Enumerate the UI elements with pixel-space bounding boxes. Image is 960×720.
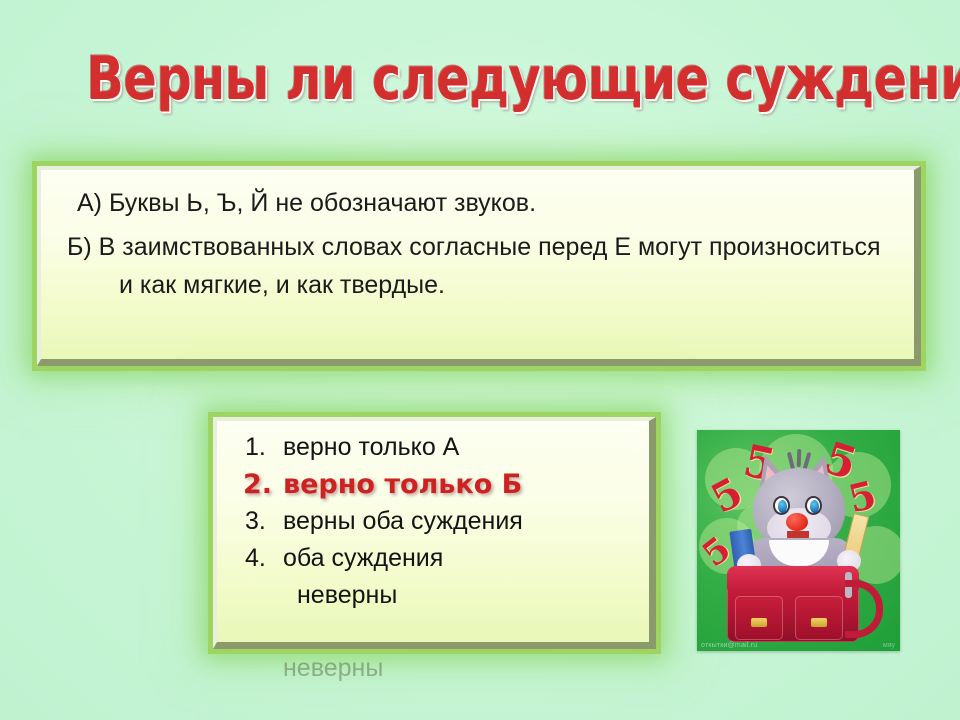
option-number-1: 1. <box>231 429 283 466</box>
schoolbag-strap-icon <box>845 580 883 638</box>
option-label-4: оба суждения <box>283 540 635 577</box>
cat-eye-right-icon <box>805 496 822 515</box>
picture-watermark-left: откытки@mail.ru <box>701 642 757 649</box>
option-label-2: верно только Б <box>283 466 635 503</box>
overflow-ghost-text: неверны <box>283 653 383 683</box>
option-number-2: 2. <box>231 466 283 503</box>
option-number-3: 3. <box>231 503 283 540</box>
option-item-2-selected[interactable]: 2. верно только Б <box>231 466 635 503</box>
schoolbag-flap-icon <box>727 566 859 592</box>
statement-panel: А) Буквы Ь, Ъ, Й не обозначают звуков. Б… <box>37 166 921 366</box>
schoolbag-clasp-right-icon <box>811 618 827 627</box>
cat-tuft-icon <box>797 449 802 467</box>
option-number-4: 4. <box>231 540 283 577</box>
option-label-1: верно только А <box>283 429 635 466</box>
options-list: 1. верно только А 2. верно только Б 3. в… <box>231 429 635 614</box>
cat-nose-icon <box>786 513 808 531</box>
option-item-3[interactable]: 3. верны оба суждения <box>231 503 635 540</box>
slide-canvas: Верны ли следующие суждения? А) Буквы Ь,… <box>0 0 960 720</box>
cat-pupil-left-icon <box>778 500 787 513</box>
cat-pupil-right-icon <box>810 500 819 513</box>
statement-line-a: А) Буквы Ь, Ъ, Й не обозначают звуков. <box>77 184 888 222</box>
page-title: Верны ли следующие суждения? <box>86 47 873 111</box>
option-label-3: верны оба суждения <box>283 503 635 540</box>
options-panel: неверны 1. верно только А 2. верно тольк… <box>213 417 656 649</box>
statement-line-b: Б) В заимствованных словах согласные пер… <box>67 228 888 304</box>
picture-watermark-right: мяу <box>883 642 895 649</box>
schoolbag-clasp-left-icon <box>751 618 767 627</box>
option-item-4-wrap: неверны <box>231 577 635 614</box>
kitten-schoolbag-picture: 5 5 5 5 5 <box>697 430 900 651</box>
option-item-1[interactable]: 1. верно только А <box>231 429 635 466</box>
option-item-4[interactable]: 4. оба суждения <box>231 540 635 577</box>
cat-eye-left-icon <box>773 496 790 515</box>
